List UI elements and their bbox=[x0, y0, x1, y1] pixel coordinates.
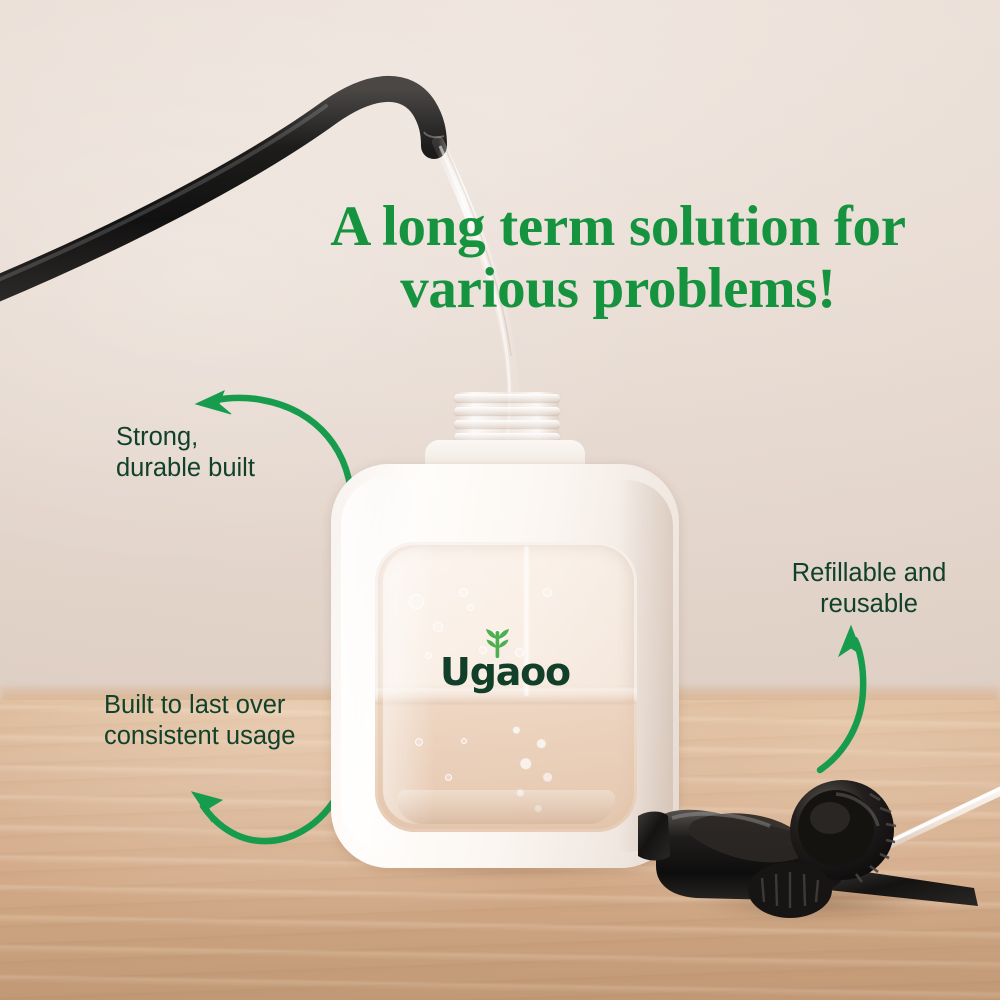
brand-logo: Ugaoo bbox=[331, 464, 679, 868]
headline: A long term solution for various problem… bbox=[268, 196, 968, 320]
callout-refillable-reusable: Refillable and reusable bbox=[756, 558, 982, 620]
headline-line-2: various problems! bbox=[268, 258, 968, 320]
sprayer-body bbox=[630, 760, 1000, 960]
sprayer-tab bbox=[638, 812, 670, 861]
spray-trigger-nozzle bbox=[630, 760, 1000, 960]
spray-bottle: Ugaoo bbox=[331, 464, 679, 868]
bottle-neck bbox=[455, 392, 559, 454]
spout-tip-rim bbox=[424, 132, 444, 137]
arrow-strong-durable-head bbox=[196, 391, 231, 414]
callout-strong-durable: Strong, durable built bbox=[116, 422, 346, 484]
headline-line-1: A long term solution for bbox=[330, 195, 905, 258]
arrow-refillable-head bbox=[839, 626, 862, 656]
arrow-refillable bbox=[820, 640, 863, 770]
callout-built-to-last: Built to last over consistent usage bbox=[104, 690, 364, 752]
brand-wordmark: Ugaoo bbox=[435, 652, 575, 692]
arrow-built-to-last-head bbox=[192, 792, 222, 822]
arrow-built-to-last bbox=[203, 789, 341, 841]
bottle-highlight-left bbox=[341, 476, 415, 852]
sprayer-lower-knob bbox=[748, 862, 832, 918]
sprout-leaf-icon bbox=[478, 627, 518, 659]
marketing-image: A long term solution for various problem… bbox=[0, 0, 1000, 1000]
bottle-liquid-window bbox=[375, 542, 637, 832]
bottle-frame bbox=[331, 464, 679, 868]
